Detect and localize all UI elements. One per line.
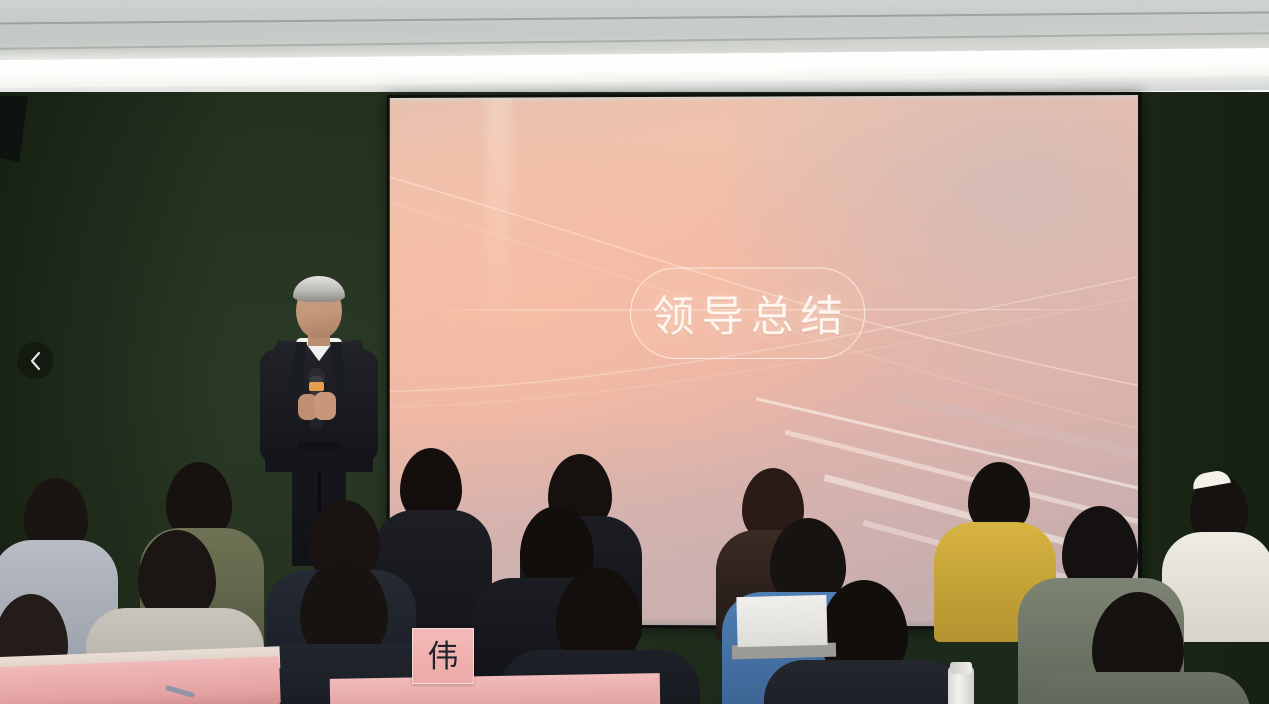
photo-viewer: 领导总结 xyxy=(0,0,1269,704)
slide-title-pill: 领导总结 xyxy=(630,267,865,359)
table-cloth xyxy=(330,673,661,704)
ceiling-seam xyxy=(0,32,1269,50)
laptop-screen xyxy=(736,595,827,647)
prev-photo-button[interactable] xyxy=(17,342,54,379)
placard-text: 伟 xyxy=(428,641,459,672)
slide-title: 领导总结 xyxy=(645,282,850,344)
water-bottle-cap xyxy=(950,662,972,674)
audience: 伟 xyxy=(0,444,1269,704)
attendee-body xyxy=(764,660,968,704)
name-placard: 伟 xyxy=(412,628,474,684)
chevron-left-icon xyxy=(28,350,43,372)
microphone-ring xyxy=(309,382,324,391)
conference-room-scene: 领导总结 xyxy=(0,0,1269,704)
presenter-hand-right xyxy=(314,392,336,420)
attendee-body xyxy=(1036,672,1250,704)
ceiling-seam xyxy=(0,11,1269,24)
presenter-hair xyxy=(293,276,345,302)
